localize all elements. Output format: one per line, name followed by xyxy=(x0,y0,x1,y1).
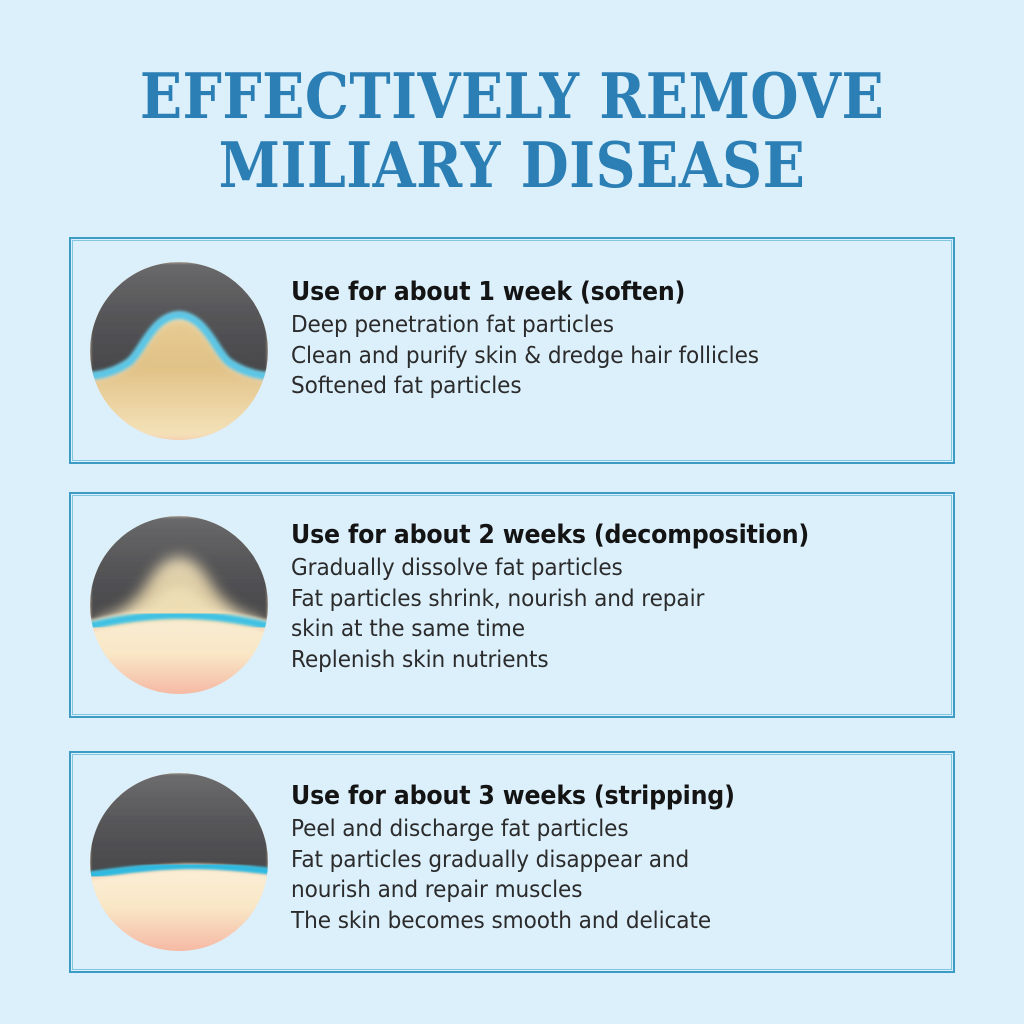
step-line: Softened fat particles xyxy=(291,371,913,402)
illustration-container-week-3 xyxy=(71,753,287,971)
step-line: nourish and repair muscles xyxy=(291,875,913,906)
step-line: Deep penetration fat particles xyxy=(291,310,913,341)
skin-cross-section-dissolving-bump-icon xyxy=(90,516,268,694)
step-line: Peel and discharge fat particles xyxy=(291,814,913,845)
step-line: Fat particles gradually disappear and xyxy=(291,845,913,876)
illustration-container-week-2 xyxy=(71,494,287,716)
step-text-week-2: Use for about 2 weeks (decomposition) Gr… xyxy=(287,494,953,675)
step-line: Fat particles shrink, nourish and repair xyxy=(291,584,913,615)
skin-cross-section-raised-bump-icon xyxy=(90,262,268,440)
step-line: skin at the same time xyxy=(291,614,913,645)
step-panel-week-1: Use for about 1 week (soften) Deep penet… xyxy=(69,237,955,464)
step-panel-week-3: Use for about 3 weeks (stripping) Peel a… xyxy=(69,751,955,973)
step-heading-week-3: Use for about 3 weeks (stripping) xyxy=(291,781,907,812)
illustration-container-week-1 xyxy=(71,239,287,462)
step-text-week-1: Use for about 1 week (soften) Deep penet… xyxy=(287,239,953,402)
step-heading-week-1: Use for about 1 week (soften) xyxy=(291,277,907,308)
step-heading-week-2: Use for about 2 weeks (decomposition) xyxy=(291,520,907,551)
skin-cross-section-flat-icon xyxy=(90,773,268,951)
step-line: Clean and purify skin & dredge hair foll… xyxy=(291,341,913,372)
step-line: Gradually dissolve fat particles xyxy=(291,553,913,584)
step-panel-week-2: Use for about 2 weeks (decomposition) Gr… xyxy=(69,492,955,718)
step-text-week-3: Use for about 3 weeks (stripping) Peel a… xyxy=(287,753,953,936)
page-title-line-1: EFFECTIVELY REMOVE xyxy=(61,62,962,131)
step-line: The skin becomes smooth and delicate xyxy=(291,906,913,937)
page-title-line-2: MILIARY DISEASE xyxy=(61,131,962,200)
step-line: Replenish skin nutrients xyxy=(291,645,913,676)
page-title: EFFECTIVELY REMOVE MILIARY DISEASE xyxy=(0,62,1024,200)
